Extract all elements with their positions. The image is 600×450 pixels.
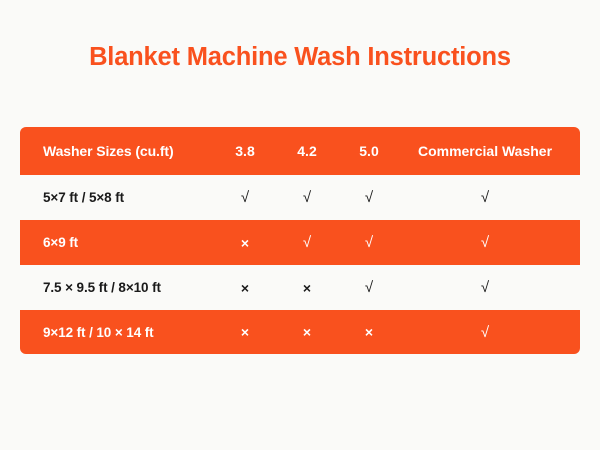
row-2-col-commercial: √ [400,234,580,251]
header-col-3-8: 3.8 [214,143,276,159]
row-2-col-3-8: × [214,235,276,251]
check-icon: √ [481,324,489,341]
cross-icon: × [241,280,249,296]
header-col-4-2: 4.2 [276,143,338,159]
table-row: 5×7 ft / 5×8 ft √ √ √ √ [20,175,580,220]
check-icon: √ [481,279,489,296]
table-header-row: Washer Sizes (cu.ft) 3.8 4.2 5.0 Commerc… [20,127,580,175]
check-icon: √ [481,189,489,206]
row-4-col-3-8: × [214,324,276,340]
header-col-5-0: 5.0 [338,143,400,159]
row-3-col-3-8: × [214,280,276,296]
row-label-3: 7.5 × 9.5 ft / 8×10 ft [20,280,205,295]
row-1-col-4-2: √ [276,189,338,206]
row-2-col-5-0: √ [338,234,400,251]
table-row: 9×12 ft / 10 × 14 ft × × × √ [20,310,580,354]
check-icon: √ [241,189,249,206]
row-label-4: 9×12 ft / 10 × 14 ft [20,325,205,340]
check-icon: √ [365,279,373,296]
check-icon: √ [365,189,373,206]
row-4-col-4-2: × [276,324,338,340]
row-3-col-4-2: × [276,280,338,296]
cross-icon: × [303,324,311,340]
wash-instructions-table: Washer Sizes (cu.ft) 3.8 4.2 5.0 Commerc… [20,127,580,354]
header-col-commercial-washer: Commercial Washer [400,143,580,159]
row-label-1: 5×7 ft / 5×8 ft [20,190,205,205]
cross-icon: × [241,235,249,251]
row-label-2: 6×9 ft [20,235,205,250]
header-washer-sizes: Washer Sizes (cu.ft) [20,143,205,159]
row-1-col-commercial: √ [400,189,580,206]
row-4-col-5-0: × [338,324,400,340]
page-title: Blanket Machine Wash Instructions [0,40,600,74]
check-icon: √ [303,189,311,206]
cross-icon: × [241,324,249,340]
row-1-col-5-0: √ [338,189,400,206]
row-1-col-3-8: √ [214,189,276,206]
infographic-page: Blanket Machine Wash Instructions Washer… [0,0,600,450]
cross-icon: × [303,280,311,296]
row-4-col-commercial: √ [400,324,580,341]
row-3-col-commercial: √ [400,279,580,296]
check-icon: √ [365,234,373,251]
table-row: 6×9 ft × √ √ √ [20,220,580,265]
table-row: 7.5 × 9.5 ft / 8×10 ft × × √ √ [20,265,580,310]
row-3-col-5-0: √ [338,279,400,296]
check-icon: √ [481,234,489,251]
cross-icon: × [365,324,373,340]
check-icon: √ [303,234,311,251]
row-2-col-4-2: √ [276,234,338,251]
